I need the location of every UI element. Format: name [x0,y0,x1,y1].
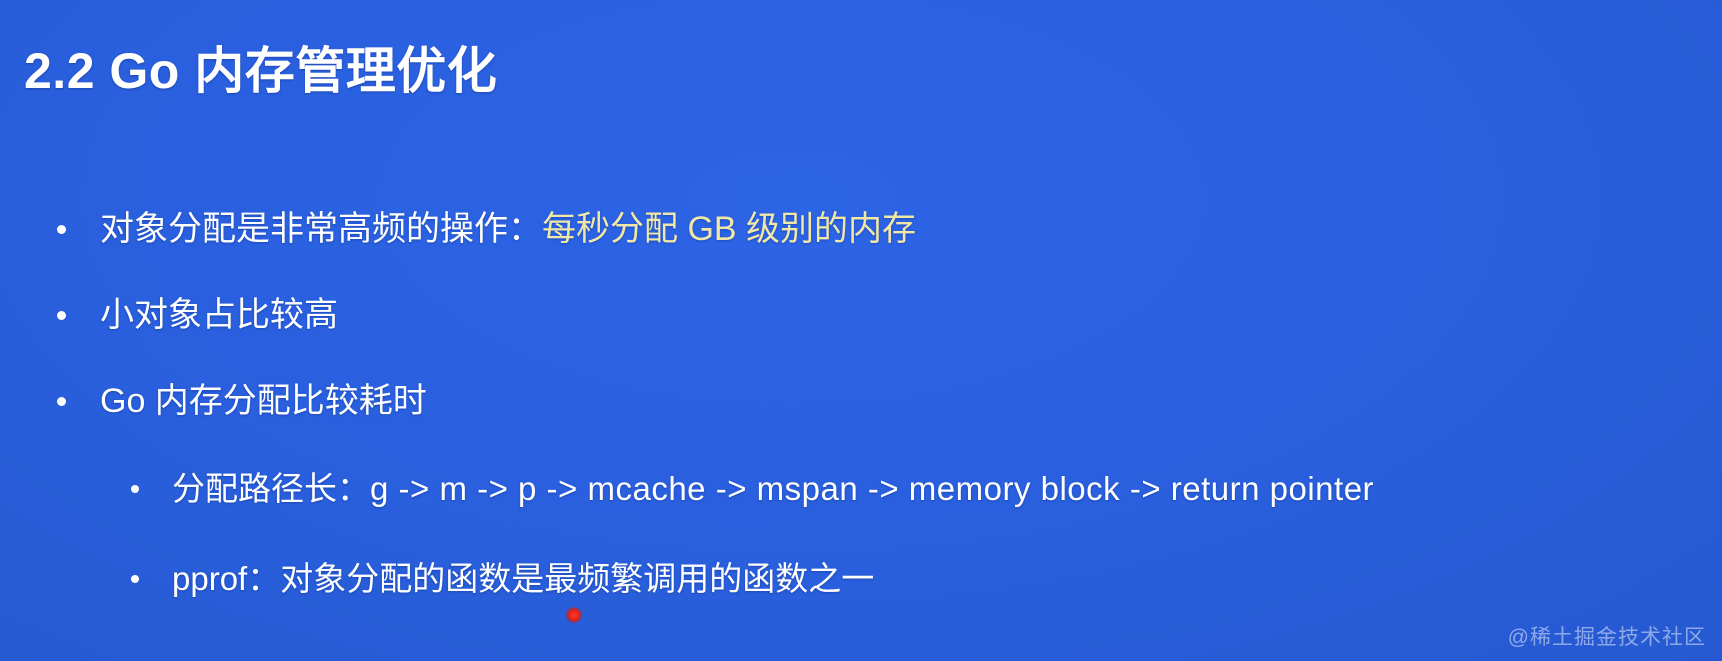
bullet-dot-icon [57,311,66,320]
bullet-dot-icon [131,485,139,493]
bullet-text: Go 内存分配比较耗时 [100,382,427,420]
bullet-text-highlight: 每秒分配 GB 级别的内存 [542,210,916,248]
sub-bullet-code: g -> m -> p -> mcache -> mspan -> memory… [370,470,1374,507]
bullet-dot-icon [57,225,66,234]
slide-canvas: 2.2 Go 内存管理优化 对象分配是非常高频的操作：每秒分配 GB 级别的内存… [0,0,1722,661]
sub-list-item: pprof：对象分配的函数是最频繁调用的函数之一 [0,534,1722,624]
bullet-list: 对象分配是非常高频的操作：每秒分配 GB 级别的内存 小对象占比较高 Go 内存… [0,186,1722,624]
sub-list-item: 分配路径长：g -> m -> p -> mcache -> mspan -> … [0,444,1722,534]
bullet-dot-icon [57,397,66,406]
list-item: Go 内存分配比较耗时 [0,358,1722,444]
bullet-dot-icon [131,575,139,583]
list-item: 小对象占比较高 [0,272,1722,358]
page-title: 2.2 Go 内存管理优化 [24,40,497,103]
bullet-text: 对象分配是非常高频的操作： [100,210,542,248]
sub-bullet-text: 分配路径长： [172,470,370,507]
watermark-label: @稀土掘金技术社区 [1508,621,1706,651]
bullet-text: 小对象占比较高 [100,296,338,334]
list-item: 对象分配是非常高频的操作：每秒分配 GB 级别的内存 [0,186,1722,272]
sub-bullet-text: pprof：对象分配的函数是最频繁调用的函数之一 [172,560,874,597]
